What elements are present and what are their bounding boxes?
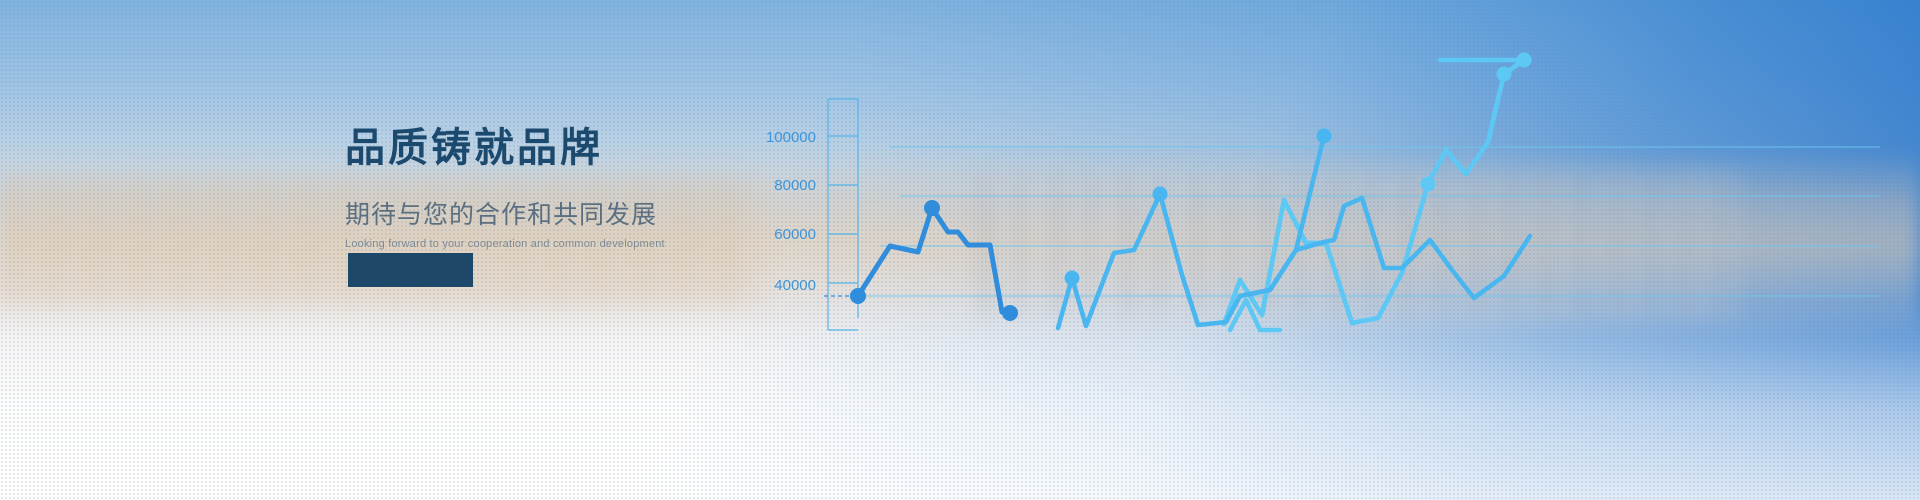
banner-copy-block: 品质铸就品牌 期待与您的合作和共同发展 Looking forward to y… (345, 128, 675, 250)
chart-series-2 (1058, 129, 1530, 329)
chart-series-1 (850, 200, 1018, 321)
page-title: 品质铸就品牌 (345, 128, 675, 168)
page-subtitle: 期待与您的合作和共同发展 (345, 195, 675, 231)
y-tick-80000: 80000 (774, 177, 816, 194)
y-tick-40000: 40000 (774, 277, 816, 294)
page-subtitle-english: Looking forward to your cooperation and … (345, 238, 675, 250)
y-tick-100000: 100000 (766, 129, 816, 146)
y-tick-60000: 60000 (774, 226, 816, 243)
y-axis-tick-labels: 100000 80000 60000 40000 (766, 129, 816, 294)
cta-button[interactable] (348, 253, 473, 287)
chart-series-2b (1226, 136, 1324, 322)
chart-series-3 (1224, 53, 1532, 325)
hero-banner: 品质铸就品牌 期待与您的合作和共同发展 Looking forward to y… (0, 0, 1920, 500)
chart-series-2-markers (1065, 129, 1332, 286)
line-chart: 100000 80000 60000 40000 (740, 0, 1920, 500)
